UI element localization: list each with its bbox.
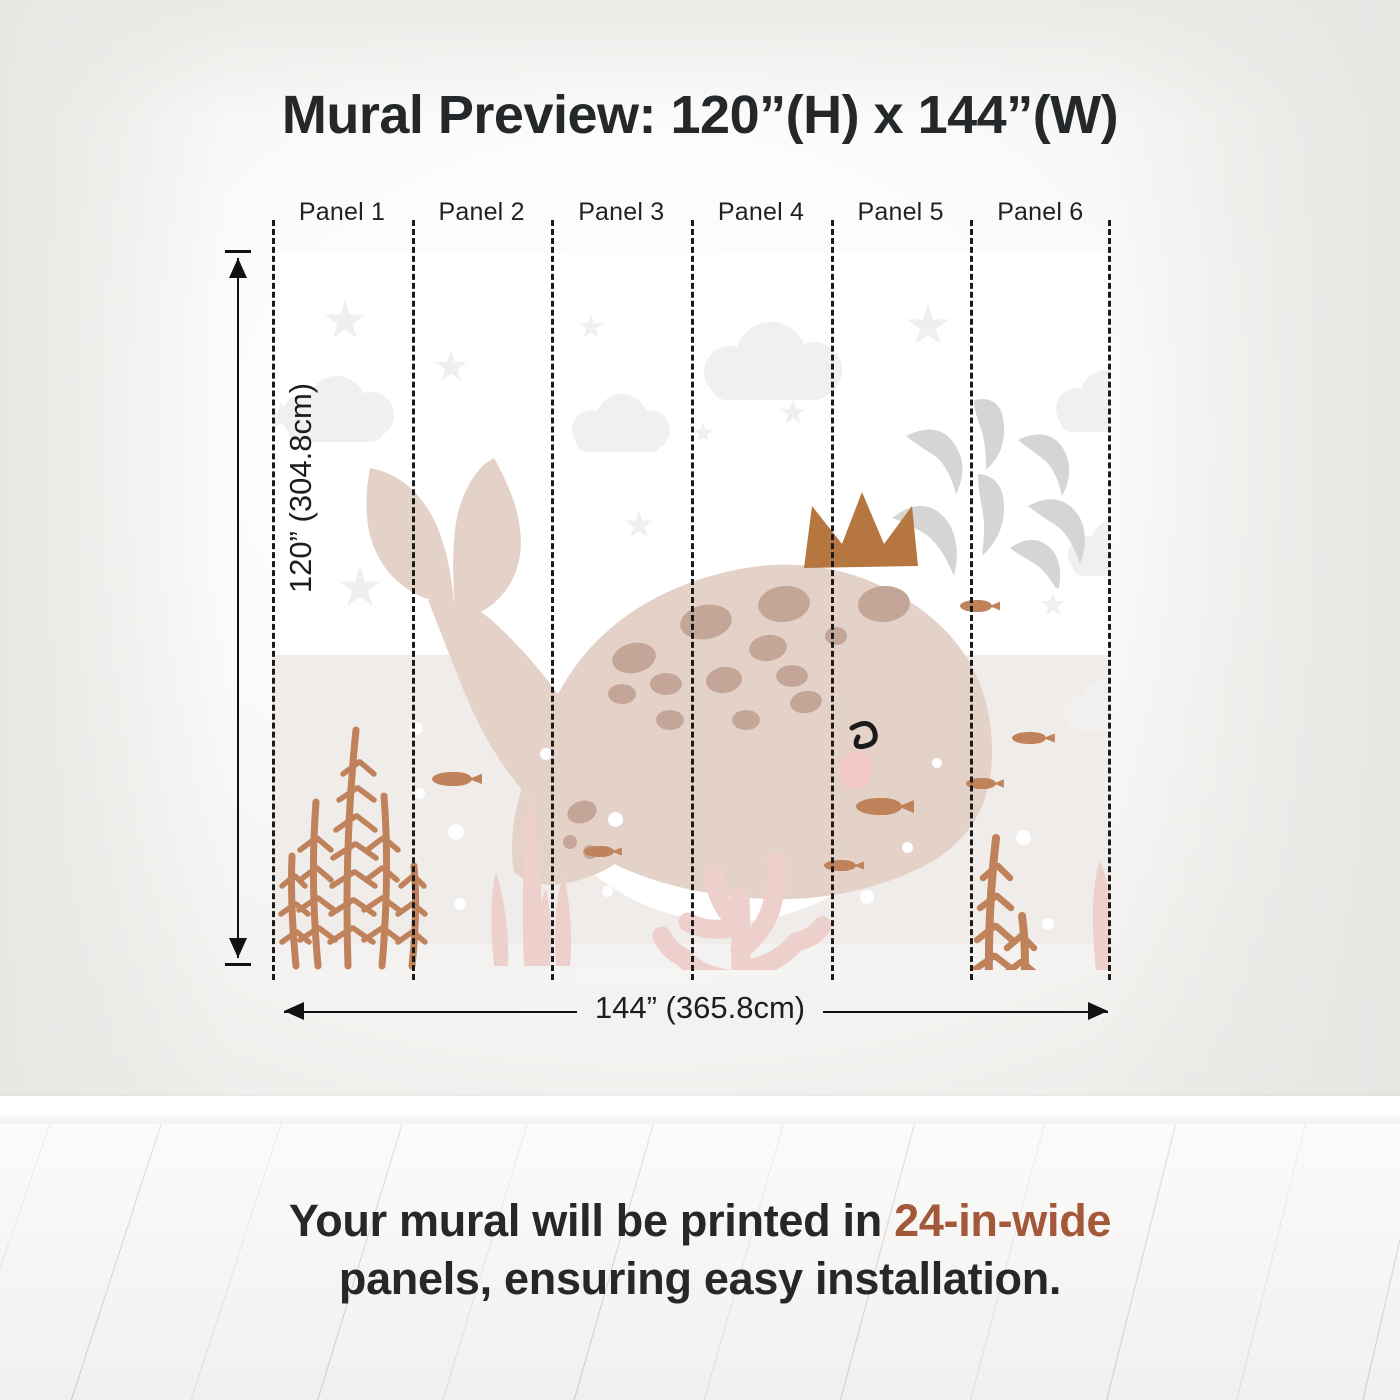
footer-caption: Your mural will be printed in 24-in-wide… — [0, 1192, 1400, 1307]
fish-icon — [584, 846, 614, 857]
bubble-icon — [602, 886, 613, 897]
arrow-down-icon — [229, 938, 247, 958]
height-dimension-line — [237, 258, 239, 958]
panel-divider — [551, 220, 554, 980]
bubble-icon — [414, 788, 425, 799]
height-dimension-label: 120” (304.8cm) — [283, 383, 319, 593]
page-title: Mural Preview: 120”(H) x 144”(W) — [0, 84, 1400, 146]
bubble-icon — [454, 898, 466, 910]
wall-shadow-left — [0, 0, 230, 1096]
panel-divider — [412, 220, 415, 980]
fish-icon — [1012, 732, 1046, 744]
width-dimension-text: 144” (365.8cm) — [577, 990, 823, 1025]
star-icon — [324, 300, 366, 342]
star-icon — [780, 400, 806, 426]
width-dimension-label: 144” (365.8cm) — [0, 990, 1400, 1026]
panel-divider — [691, 220, 694, 980]
dimension-cap-top — [225, 250, 251, 253]
bubble-icon — [1042, 918, 1054, 930]
fish-icon — [824, 860, 856, 871]
arrow-up-icon — [229, 258, 247, 278]
panel-label-6: Panel 6 — [970, 198, 1110, 227]
panel-label-1: Panel 1 — [272, 198, 412, 227]
wall-shadow-right — [1100, 0, 1400, 1096]
panel-divider — [1108, 220, 1111, 980]
bubble-icon — [860, 890, 874, 904]
panel-divider — [272, 220, 275, 980]
fish-icon — [432, 772, 472, 786]
panel-label-5: Panel 5 — [831, 198, 971, 227]
caption-line-1-prefix: Your mural will be printed in — [289, 1195, 894, 1246]
bubble-icon — [932, 758, 942, 768]
panel-label-3: Panel 3 — [551, 198, 691, 227]
mural-preview: Panel 1 Panel 2 Panel 3 Panel 4 Panel 5 … — [272, 252, 1110, 970]
panel-divider — [831, 220, 834, 980]
bubble-icon — [448, 824, 464, 840]
star-icon — [434, 350, 468, 384]
caption-accent-text: 24-in-wide — [894, 1195, 1111, 1246]
caption-line-2: panels, ensuring easy installation. — [0, 1250, 1400, 1308]
star-icon — [578, 314, 604, 340]
baseboard — [0, 1096, 1400, 1124]
panel-divider — [970, 220, 973, 980]
fish-icon — [856, 798, 902, 815]
bubble-icon — [902, 842, 913, 853]
bubble-icon — [540, 748, 552, 760]
panel-label-2: Panel 2 — [412, 198, 552, 227]
bubble-icon — [608, 812, 623, 827]
caption-line-1: Your mural will be printed in 24-in-wide — [0, 1192, 1400, 1250]
dimension-cap-bottom — [225, 963, 251, 966]
panel-label-4: Panel 4 — [691, 198, 831, 227]
bubble-icon — [1016, 830, 1031, 845]
star-icon — [906, 304, 950, 348]
star-icon — [1040, 592, 1066, 618]
fish-icon — [960, 600, 992, 612]
